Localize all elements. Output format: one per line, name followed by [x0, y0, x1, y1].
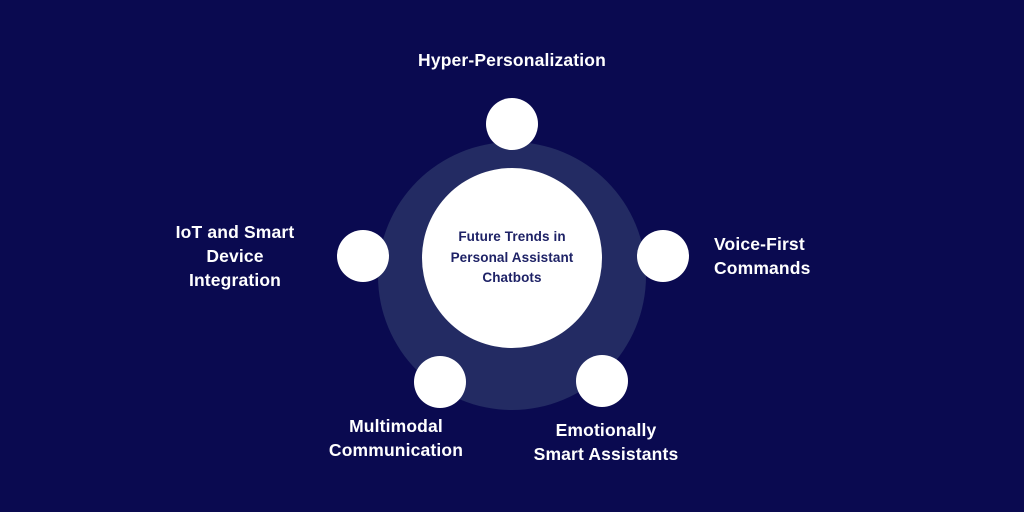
center-hub-text: Future Trends in Personal Assistant Chat… — [437, 227, 587, 290]
label-line-2: Device — [160, 244, 310, 268]
node-circle-emotionally-smart-assistants[interactable] — [576, 355, 628, 407]
node-label-emotionally-smart-assistants: Emotionally Smart Assistants — [510, 418, 702, 466]
node-label-hyper-personalization: Hyper-Personalization — [362, 48, 662, 72]
hub-title-line-2: Personal Assistant — [437, 248, 587, 269]
label-line-3: Integration — [160, 268, 310, 292]
label-line-2: Smart Assistants — [510, 442, 702, 466]
label-line-1: Hyper-Personalization — [362, 48, 662, 72]
diagram-canvas: Future Trends in Personal Assistant Chat… — [0, 0, 1024, 512]
node-circle-hyper-personalization[interactable] — [486, 98, 538, 150]
label-line-1: Multimodal — [300, 414, 492, 438]
node-circle-voice-first-commands[interactable] — [637, 230, 689, 282]
node-circle-multimodal-communication[interactable] — [414, 356, 466, 408]
label-line-1: IoT and Smart — [160, 220, 310, 244]
node-label-iot-and-smart-device-integration: IoT and Smart Device Integration — [160, 220, 310, 292]
label-line-2: Communication — [300, 438, 492, 462]
center-hub-circle: Future Trends in Personal Assistant Chat… — [422, 168, 602, 348]
label-line-1: Voice-First — [714, 232, 884, 256]
node-circle-iot-and-smart-device-integration[interactable] — [337, 230, 389, 282]
hub-title-line-1: Future Trends in — [437, 227, 587, 248]
node-label-multimodal-communication: Multimodal Communication — [300, 414, 492, 462]
node-label-voice-first-commands: Voice-First Commands — [714, 232, 884, 280]
label-line-1: Emotionally — [510, 418, 702, 442]
hub-title-line-3: Chatbots — [437, 268, 587, 289]
label-line-2: Commands — [714, 256, 884, 280]
